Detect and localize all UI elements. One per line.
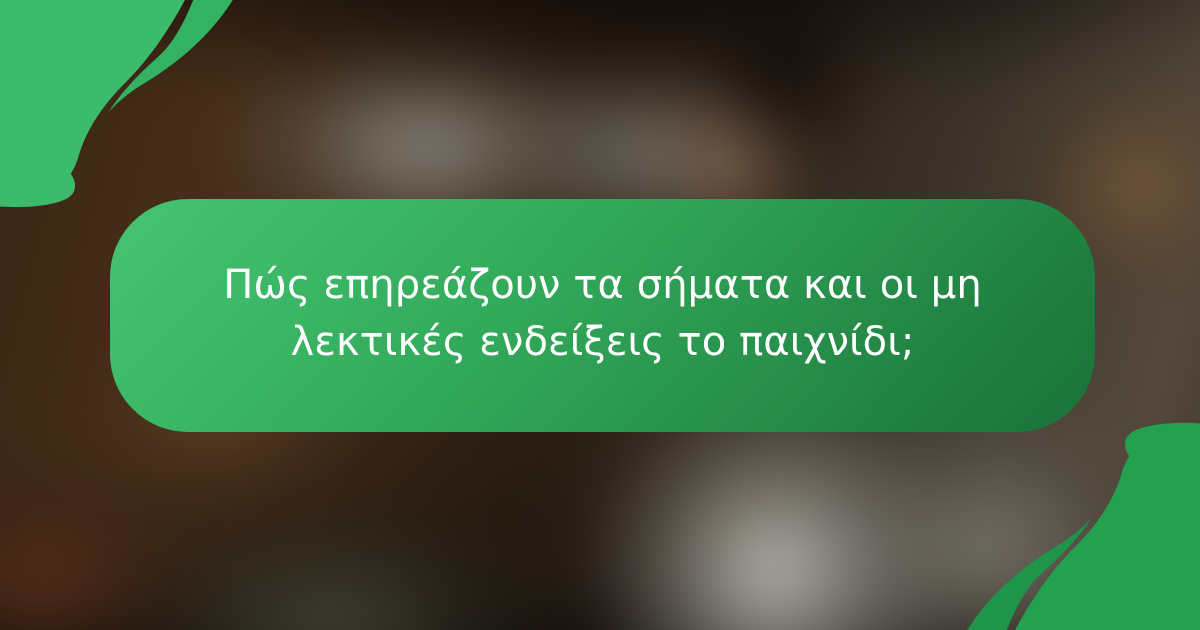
headline-title: Πώς επηρεάζουν τα σήματα και οι μη λεκτι… [223,257,982,371]
social-share-card: Πώς επηρεάζουν τα σήματα και οι μη λεκτι… [0,0,1200,630]
headline-card: Πώς επηρεάζουν τα σήματα και οι μη λεκτι… [110,199,1095,432]
